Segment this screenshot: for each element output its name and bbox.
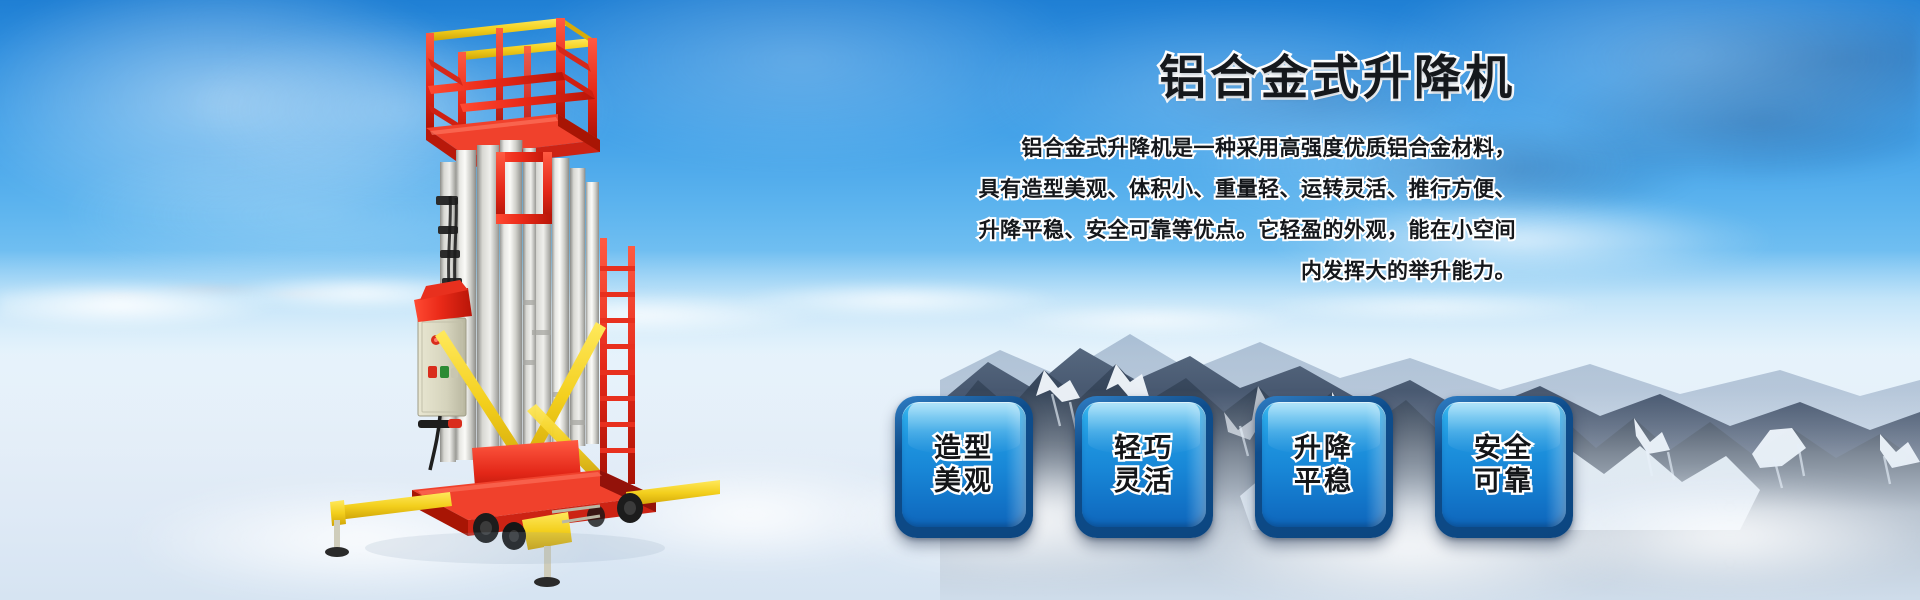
feature-badge-line1: 轻巧 bbox=[1114, 432, 1174, 465]
feature-badge-line2: 可靠 bbox=[1474, 465, 1534, 498]
feature-badge-line2: 平稳 bbox=[1294, 465, 1354, 498]
product-description: 铝合金式升降机是一种采用高强度优质铝合金材料， 具有造型美观、体积小、重量轻、运… bbox=[770, 128, 1530, 292]
description-line: 升降平稳、安全可靠等优点。它轻盈的外观，能在小空间 bbox=[770, 210, 1516, 251]
feature-badge-lightweight[interactable]: 轻巧 灵活 bbox=[1075, 396, 1213, 538]
feature-badge-safety[interactable]: 安全 可靠 bbox=[1435, 396, 1573, 538]
description-line: 铝合金式升降机是一种采用高强度优质铝合金材料， bbox=[770, 128, 1516, 169]
description-line: 内发挥大的举升能力。 bbox=[770, 251, 1516, 292]
page-title: 铝合金式升降机 bbox=[770, 48, 1530, 108]
feature-badge-line1: 安全 bbox=[1474, 432, 1534, 465]
copy-block: 铝合金式升降机 铝合金式升降机是一种采用高强度优质铝合金材料， 具有造型美观、体… bbox=[770, 48, 1530, 292]
feature-badge-list: 造型 美观 轻巧 灵活 升降 平稳 安全 可靠 bbox=[895, 396, 1573, 538]
description-line: 具有造型美观、体积小、重量轻、运转灵活、推行方便、 bbox=[770, 169, 1516, 210]
feature-badge-face: 造型 美观 bbox=[902, 402, 1026, 527]
feature-badge-line2: 美观 bbox=[934, 465, 994, 498]
product-image-aluminium-lift bbox=[300, 0, 720, 600]
feature-badge-smooth-lifting[interactable]: 升降 平稳 bbox=[1255, 396, 1393, 538]
feature-badge-face: 升降 平稳 bbox=[1262, 402, 1386, 527]
feature-badge-line2: 灵活 bbox=[1114, 465, 1174, 498]
feature-badge-line1: 造型 bbox=[934, 432, 994, 465]
feature-badge-appearance[interactable]: 造型 美观 bbox=[895, 396, 1033, 538]
feature-badge-face: 安全 可靠 bbox=[1442, 402, 1566, 527]
feature-badge-face: 轻巧 灵活 bbox=[1082, 402, 1206, 527]
feature-badge-line1: 升降 bbox=[1294, 432, 1354, 465]
product-banner: 铝合金式升降机 铝合金式升降机是一种采用高强度优质铝合金材料， 具有造型美观、体… bbox=[0, 0, 1920, 600]
